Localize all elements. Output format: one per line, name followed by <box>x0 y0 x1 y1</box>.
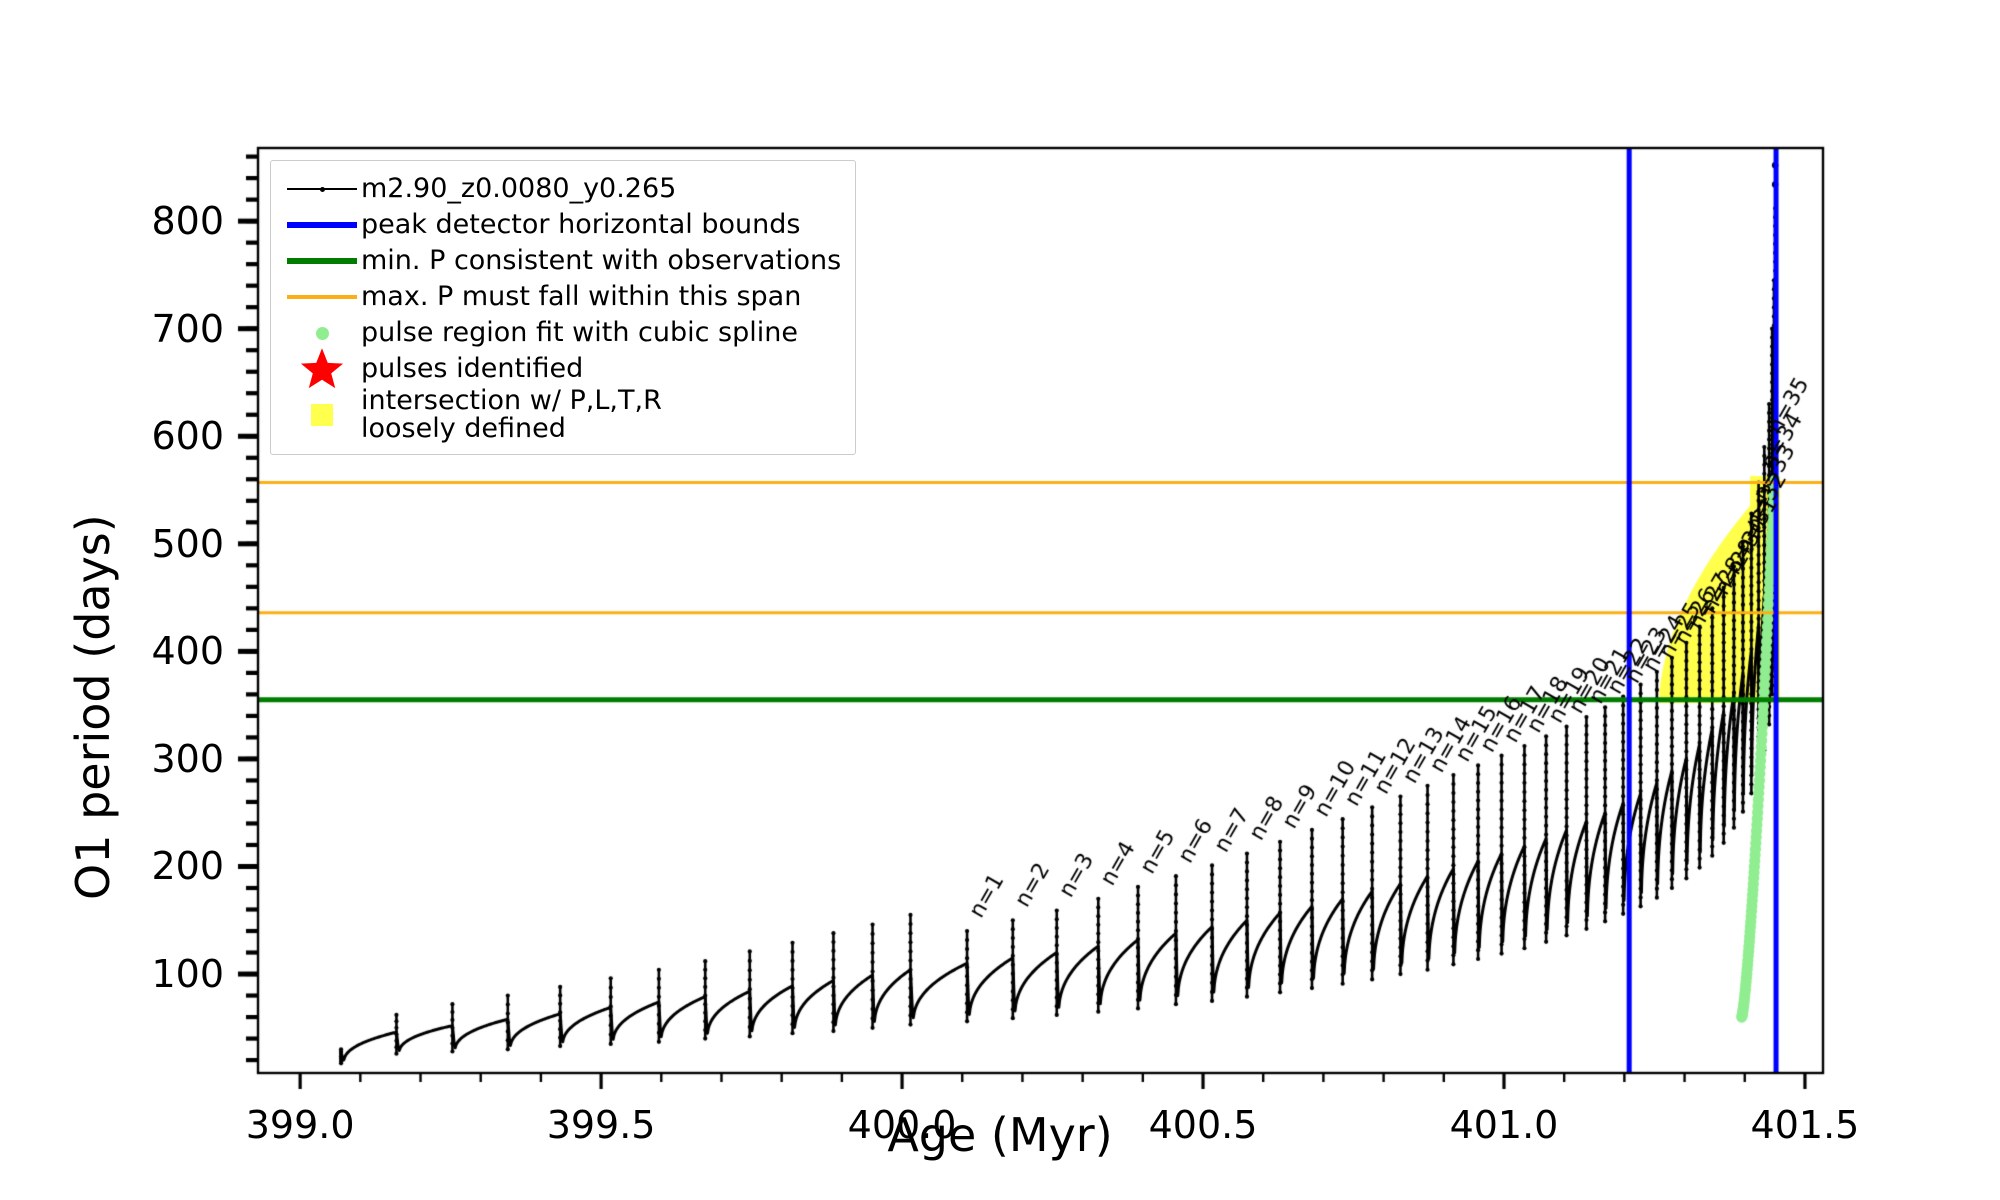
x-tick-label: 399.5 <box>547 1103 656 1147</box>
y-tick-label: 400 <box>151 629 224 673</box>
y-tick-label: 800 <box>151 199 224 243</box>
legend-entry: intersection w/ P,L,T,R loosely defined <box>283 387 841 444</box>
x-tick-label: 400.5 <box>1149 1103 1258 1147</box>
legend-label: m2.90_z0.0080_y0.265 <box>361 175 676 203</box>
x-tick-label: 400.0 <box>848 1103 957 1147</box>
legend-line-swatch <box>287 258 357 264</box>
legend-key-line <box>283 243 361 279</box>
legend-line-swatch <box>287 295 357 299</box>
legend-label: intersection w/ P,L,T,R loosely defined <box>361 387 662 444</box>
legend-dot-swatch <box>316 327 329 340</box>
y-tick-label: 300 <box>151 737 224 781</box>
legend-key-line <box>283 207 361 243</box>
legend-square-swatch <box>311 404 333 426</box>
legend-entry: peak detector horizontal bounds <box>283 207 841 243</box>
legend-label: min. P consistent with observations <box>361 247 841 275</box>
x-tick-label: 401.0 <box>1450 1103 1559 1147</box>
legend-key-square <box>283 397 361 433</box>
y-tick-label: 200 <box>151 844 224 888</box>
legend-label: pulses identified <box>361 355 583 383</box>
legend-entry: max. P must fall within this span <box>283 279 841 315</box>
legend-entry: m2.90_z0.0080_y0.265 <box>283 171 841 207</box>
legend-entry: min. P consistent with observations <box>283 243 841 279</box>
y-tick-label: 500 <box>151 522 224 566</box>
legend: m2.90_z0.0080_y0.265peak detector horizo… <box>270 160 856 455</box>
legend-data-line-swatch <box>287 187 357 191</box>
star-icon <box>299 346 345 392</box>
legend-label: max. P must fall within this span <box>361 283 801 311</box>
x-tick-label: 399.0 <box>246 1103 355 1147</box>
legend-key-data-line <box>283 171 361 207</box>
legend-entry: pulse region fit with cubic spline <box>283 315 841 351</box>
legend-key-line <box>283 279 361 315</box>
legend-label: peak detector horizontal bounds <box>361 211 800 239</box>
figure-container: Age (Myr) O1 period (days) 399.0399.5400… <box>0 0 2000 1200</box>
y-tick-label: 100 <box>151 952 224 996</box>
legend-entry: pulses identified <box>283 351 841 387</box>
y-tick-label: 600 <box>151 414 224 458</box>
legend-label: pulse region fit with cubic spline <box>361 319 798 347</box>
y-tick-label: 700 <box>151 307 224 351</box>
legend-key-star <box>283 351 361 387</box>
legend-line-swatch <box>287 222 357 228</box>
y-axis-title: O1 period (days) <box>66 514 120 900</box>
x-tick-label: 401.5 <box>1751 1103 1860 1147</box>
